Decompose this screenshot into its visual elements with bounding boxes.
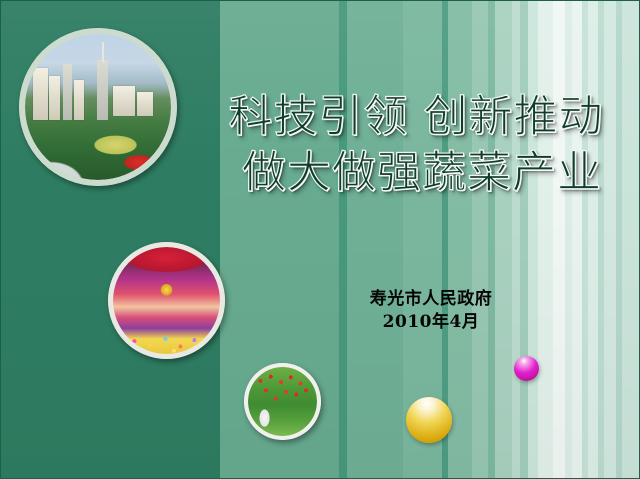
photo-aerial-cityscape (19, 28, 177, 186)
building-block-5 (137, 92, 153, 116)
building-spire (102, 42, 104, 62)
building-tower-2 (97, 60, 108, 120)
presentation-title-slide: 科技引领 创新推动 做大做强蔬菜产业 寿光市人民政府 2010年4月 (0, 0, 640, 479)
building-block-4 (113, 86, 135, 116)
magenta-sphere-icon (514, 356, 539, 381)
photo-festival-stage (108, 242, 225, 359)
building-block-2 (49, 76, 60, 120)
building-tower-1 (63, 64, 72, 120)
photo-aerial-cityscape-image (25, 34, 171, 180)
building-block-3 (74, 80, 84, 120)
photo-greenhouse-tomatoes (244, 363, 321, 440)
building-block-1 (33, 68, 48, 120)
photo-greenhouse-tomatoes-image (248, 367, 317, 436)
gold-sphere-icon (406, 397, 452, 443)
photo-festival-stage-image (113, 247, 220, 354)
